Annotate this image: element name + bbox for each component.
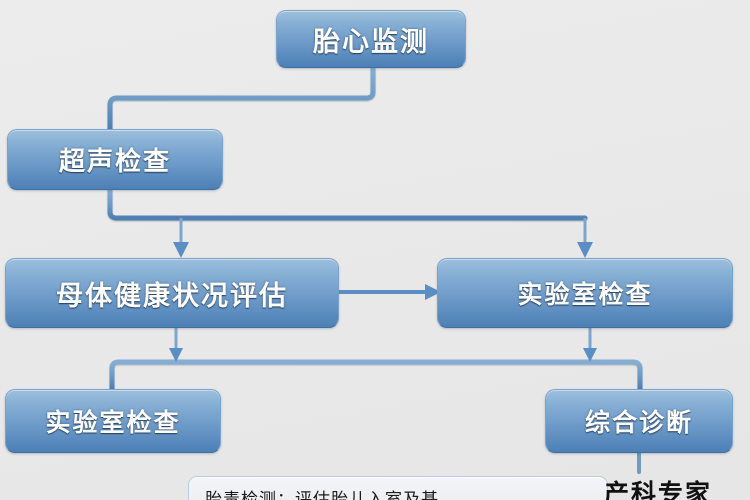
arrowhead-maternal-to-lowerbus — [169, 348, 183, 362]
node-fetal-heart-monitoring[interactable]: 胎心监测 — [276, 10, 466, 68]
node-ultrasound-examination[interactable]: 超声检查 — [7, 129, 223, 190]
arrowhead-to-labright — [577, 242, 593, 258]
node-label: 母体健康状况评估 — [56, 274, 288, 313]
expert-label: 产科专家 — [604, 474, 712, 500]
edge-lower-bus — [112, 362, 640, 389]
node-label: 实验室检查 — [45, 403, 180, 439]
caption-box[interactable]: 胎毒检测：评估胎儿入室及基 — [188, 476, 608, 500]
node-label: 超声检查 — [59, 141, 171, 178]
caption-text: 胎毒检测：评估胎儿入室及基 — [205, 485, 439, 500]
flowchart-canvas: 胎心监测 超声检查 母体健康状况评估 实验室检查 实验室检查 综合诊断 胎毒检测… — [0, 0, 750, 500]
node-label: 胎心监测 — [313, 20, 429, 59]
node-laboratory-examination-bottom[interactable]: 实验室检查 — [5, 389, 221, 453]
node-label: 实验室检查 — [517, 275, 652, 311]
node-label: 综合诊断 — [585, 403, 693, 439]
edge-ultrasound-to-bus — [110, 190, 585, 218]
node-laboratory-examination-right[interactable]: 实验室检查 — [437, 258, 733, 328]
arrowhead-labright-to-lowerbus — [583, 348, 597, 362]
arrowhead-to-maternal — [173, 242, 189, 258]
node-maternal-health-assessment[interactable]: 母体健康状况评估 — [5, 258, 339, 328]
node-comprehensive-diagnosis[interactable]: 综合诊断 — [545, 389, 733, 453]
edge-fetalheart-to-ultrasound — [110, 68, 373, 129]
